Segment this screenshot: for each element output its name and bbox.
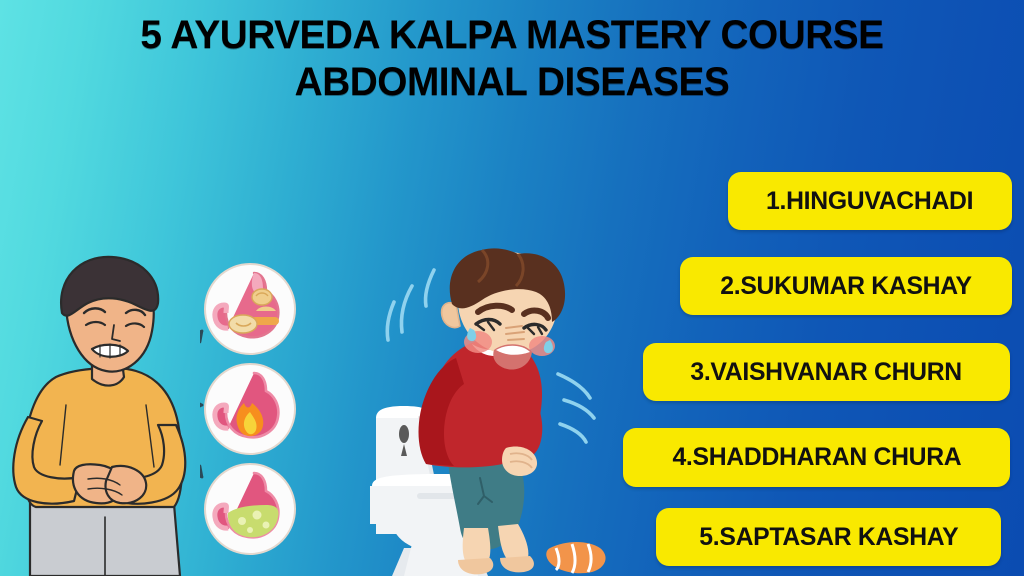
- stomach-with-food-icon: [205, 264, 295, 354]
- remedy-pill-4[interactable]: 4.SHADDHARAN CHURA: [623, 428, 1010, 487]
- remedy-label-4: 4.SHADDHARAN CHURA: [672, 443, 961, 472]
- remedy-label-2: 2.SUKUMAR KASHAY: [720, 272, 972, 301]
- remedy-pill-1[interactable]: 1.HINGUVACHADI: [728, 172, 1012, 230]
- arrow-icon: [200, 331, 202, 477]
- page-title: 5 AYURVEDA KALPA MASTERY COURSE ABDOMINA…: [0, 12, 1024, 106]
- remedy-label-1: 1.HINGUVACHADI: [766, 187, 973, 216]
- stomach-with-flame-icon: [205, 364, 295, 454]
- remedy-pill-2[interactable]: 2.SUKUMAR KASHAY: [680, 257, 1012, 315]
- remedy-pill-3[interactable]: 3.VAISHVANAR CHURN: [643, 343, 1010, 401]
- motion-lines-left: [387, 270, 434, 340]
- remedy-pill-5[interactable]: 5.SAPTASAR KASHAY: [656, 508, 1001, 566]
- poster-canvas: 5 AYURVEDA KALPA MASTERY COURSE ABDOMINA…: [0, 0, 1024, 576]
- remedy-label-5: 5.SAPTASAR KASHAY: [699, 523, 958, 552]
- stomach-with-gas-bubbles-icon: [205, 464, 295, 554]
- title-line-2: ABDOMINAL DISEASES: [15, 59, 1008, 106]
- motion-lines-right: [558, 374, 594, 442]
- man-holding-stomach-illustration: [8, 255, 208, 576]
- remedy-label-3: 3.VAISHVANAR CHURN: [691, 358, 963, 387]
- title-line-1: 5 AYURVEDA KALPA MASTERY COURSE: [15, 12, 1008, 59]
- slipper-icon: [546, 542, 605, 573]
- stomach-conditions-group: [200, 255, 330, 576]
- boy-on-toilet-illustration: [360, 248, 630, 576]
